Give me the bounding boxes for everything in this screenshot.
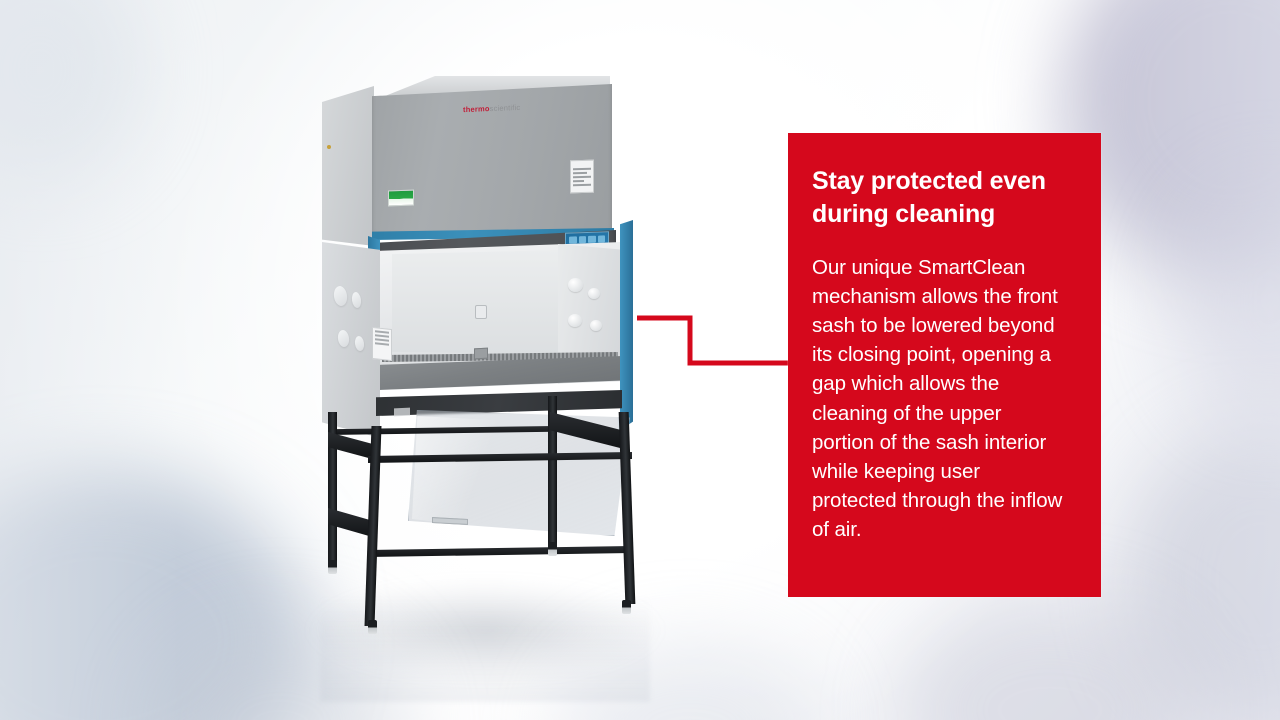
leveling-foot (548, 542, 557, 556)
leveling-foot (368, 620, 377, 634)
callout-body-text: Our unique SmartClean mechanism allows t… (812, 253, 1067, 544)
leveling-foot (328, 560, 337, 574)
leveling-foot (622, 600, 631, 614)
callout-heading: Stay protected even during cleaning (812, 165, 1067, 231)
base-badge-label (394, 408, 410, 417)
green-certification-label-icon (388, 190, 414, 207)
sash-handle[interactable] (432, 517, 468, 525)
callout-leader-line (620, 290, 800, 380)
service-port-icon (588, 288, 600, 299)
cabinet-left-side-upper (322, 86, 374, 246)
service-port-icon (568, 278, 583, 292)
callout-panel: Stay protected even during cleaning Our … (788, 133, 1101, 597)
leader-line-path (637, 318, 792, 363)
brand-logo-primary: thermo (463, 104, 490, 114)
service-port-icon (568, 314, 582, 327)
work-surface-clip (474, 348, 488, 360)
side-rating-label (372, 327, 392, 361)
interior-outlet-icon (475, 305, 487, 319)
side-screw-icon (327, 145, 331, 149)
interior-back-wall (392, 250, 562, 354)
cabinet-base-strip (376, 390, 622, 416)
service-port-icon (590, 320, 602, 331)
brand-logo-secondary: scientific (490, 103, 521, 113)
specification-label (570, 160, 594, 194)
